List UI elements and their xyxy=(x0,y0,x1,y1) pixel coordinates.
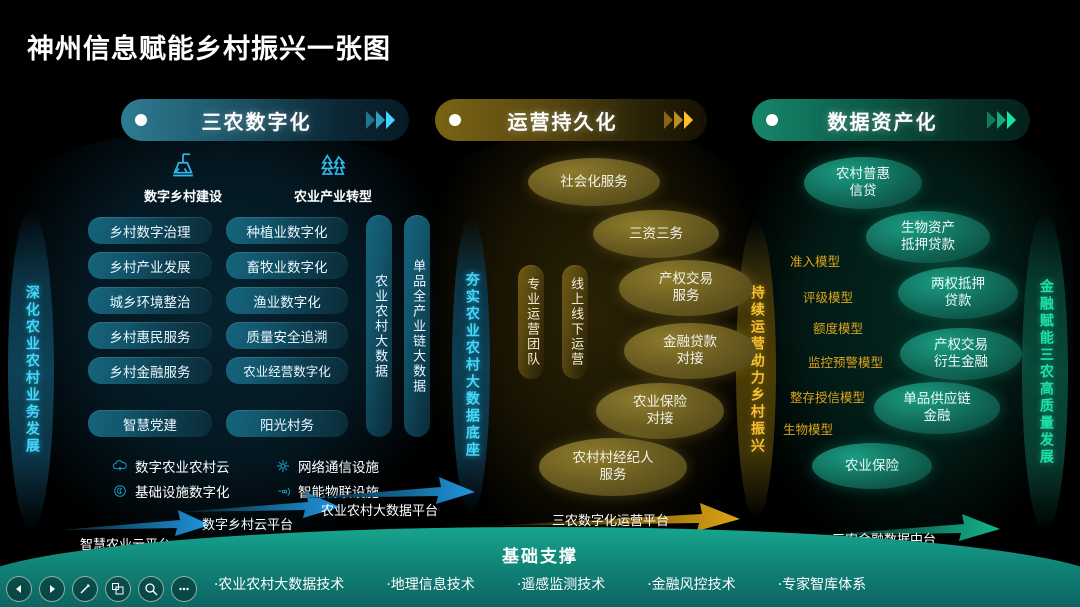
bubble-item[interactable]: 产权交易 衍生金融 xyxy=(900,328,1022,380)
chevron-right-icon xyxy=(366,111,395,129)
more-button[interactable] xyxy=(171,576,197,602)
infographic-canvas: 神州信息赋能乡村振兴一张图 深化农业农村业务发展 夯实农业农村大数据底座 持续运… xyxy=(0,0,1080,607)
group-label: 农业产业转型 xyxy=(278,186,388,205)
group-digital-village: 数字乡村建设 xyxy=(128,150,238,205)
model-label: 监控预警模型 xyxy=(808,352,883,371)
group-label: 数字乡村建设 xyxy=(128,186,238,205)
base-item: ·遥感监测技术 xyxy=(517,574,605,594)
chip-item[interactable]: 乡村数字治理 xyxy=(88,217,212,244)
rail-label: 金融赋能三农高质量发展 xyxy=(1037,279,1053,466)
bubble-item[interactable]: 金融贷款 对接 xyxy=(624,323,756,379)
section-header-sannong-digital[interactable]: 三农数字化 xyxy=(121,99,409,141)
rail-label: 夯实农业农村大数据底座 xyxy=(463,272,479,459)
rail-continuous-operation: 持续运营助力乡村振兴 xyxy=(736,220,776,520)
group-industry-transform: 农业产业转型 xyxy=(278,150,388,205)
rail-bigdata-foundation: 夯实农业农村大数据底座 xyxy=(452,215,490,515)
model-label: 评级模型 xyxy=(803,287,853,306)
footer-network-item[interactable]: 网络通信设施 xyxy=(275,456,379,476)
bubble-item[interactable]: 三资三务 xyxy=(593,210,719,258)
chip-item[interactable]: 乡村产业发展 xyxy=(88,252,212,279)
viewer-toolbar[interactable] xyxy=(6,576,197,602)
bubble-item[interactable]: 农村普惠 信贷 xyxy=(804,157,922,209)
cloud-arrow-icon xyxy=(112,458,128,474)
layout-button[interactable] xyxy=(105,576,131,602)
section-header-label: 数据资产化 xyxy=(778,106,987,135)
base-title: 基础支撑 xyxy=(0,542,1080,567)
rail-finance-empower: 金融赋能三农高质量发展 xyxy=(1022,212,1068,532)
base-item: ·金融风控技术 xyxy=(647,574,735,594)
vbar-online-offline[interactable]: 线上线下运营 xyxy=(562,265,588,379)
chip-item[interactable]: 质量安全追溯 xyxy=(226,322,348,349)
chip-item[interactable]: 农业经营数字化 xyxy=(226,357,348,384)
pen-button[interactable] xyxy=(72,576,98,602)
bullet-dot-icon xyxy=(766,114,778,126)
infra-digital-icon xyxy=(112,483,128,499)
bullet-dot-icon xyxy=(135,114,147,126)
bubble-item[interactable]: 农业保险 对接 xyxy=(596,383,724,439)
ellipsis-icon xyxy=(177,582,191,596)
section-header-label: 运营持久化 xyxy=(461,106,664,135)
chip-item[interactable]: 畜牧业数字化 xyxy=(226,252,348,279)
chip-item[interactable]: 城乡环境整治 xyxy=(88,287,212,314)
rail-label: 深化农业农村业务发展 xyxy=(23,285,39,455)
chip-item[interactable]: 乡村金融服务 xyxy=(88,357,212,384)
chip-item[interactable]: 阳光村务 xyxy=(226,410,348,437)
previous-button[interactable] xyxy=(6,576,32,602)
layout-grid-icon xyxy=(111,582,125,596)
chip-item[interactable]: 种植业数字化 xyxy=(226,217,348,244)
bubble-item[interactable]: 农村村经纪人 服务 xyxy=(539,438,687,496)
search-button[interactable] xyxy=(138,576,164,602)
base-item: ·专家智库体系 xyxy=(778,574,866,594)
bubble-item[interactable]: 农业保险 xyxy=(812,443,932,489)
model-label: 额度模型 xyxy=(813,318,863,337)
bubble-item[interactable]: 社会化服务 xyxy=(528,158,660,206)
forest-industry-icon xyxy=(316,150,350,184)
chevron-right-icon xyxy=(664,111,693,129)
network-node-icon xyxy=(275,458,291,474)
vbar-label: 线上线下运营 xyxy=(568,277,582,367)
vbar-label: 农业农村大数据 xyxy=(372,274,386,379)
model-label: 准入模型 xyxy=(790,251,840,270)
model-label: 整存授信模型 xyxy=(790,387,865,406)
triangle-left-icon xyxy=(14,584,24,594)
section-header-operation[interactable]: 运营持久化 xyxy=(435,99,707,141)
base-item: ·农业农村大数据技术 xyxy=(214,574,344,594)
triangle-right-icon xyxy=(47,584,57,594)
bubble-item[interactable]: 两权抵押 贷款 xyxy=(898,267,1018,319)
footer-cloud-item[interactable]: 数字农业农村云 xyxy=(112,456,230,476)
vbar-operation-team[interactable]: 专业运营团队 xyxy=(518,265,544,379)
bubble-item[interactable]: 单品供应链 金融 xyxy=(874,382,1000,434)
model-label: 生物模型 xyxy=(783,419,833,438)
search-icon xyxy=(144,582,158,596)
section-header-data-asset[interactable]: 数据资产化 xyxy=(752,99,1030,141)
chip-item[interactable]: 渔业数字化 xyxy=(226,287,348,314)
bullet-dot-icon xyxy=(449,114,461,126)
rail-label: 持续运营助力乡村振兴 xyxy=(748,285,764,455)
rail-deepen-agri-business: 深化农业农村业务发展 xyxy=(8,210,54,530)
vbar-supply-chain-bigdata[interactable]: 单品全产业链大数据 xyxy=(404,215,430,437)
pen-icon xyxy=(78,582,92,596)
chip-item[interactable]: 乡村惠民服务 xyxy=(88,322,212,349)
footer-label: 数字农业农村云 xyxy=(135,456,230,476)
page-title: 神州信息赋能乡村振兴一张图 xyxy=(27,27,391,66)
footer-label: 网络通信设施 xyxy=(298,456,379,476)
arrow-label: 数字乡村云平台 xyxy=(202,514,293,533)
chip-item[interactable]: 智慧党建 xyxy=(88,410,212,437)
arrow-agri-bigdata-platform: 农业农村大数据平台 xyxy=(305,474,475,510)
arrow-label: 农业农村大数据平台 xyxy=(321,500,438,519)
base-item: ·地理信息技术 xyxy=(386,574,474,594)
vbar-label: 专业运营团队 xyxy=(524,277,538,367)
vbar-agri-bigdata[interactable]: 农业农村大数据 xyxy=(366,215,392,437)
village-construction-icon xyxy=(166,150,200,184)
bubble-item[interactable]: 生物资产 抵押贷款 xyxy=(866,211,990,263)
section-header-label: 三农数字化 xyxy=(147,106,366,135)
vbar-label: 单品全产业链大数据 xyxy=(410,259,424,394)
chevron-right-icon xyxy=(987,111,1016,129)
bubble-item[interactable]: 产权交易 服务 xyxy=(619,260,753,316)
next-button[interactable] xyxy=(39,576,65,602)
